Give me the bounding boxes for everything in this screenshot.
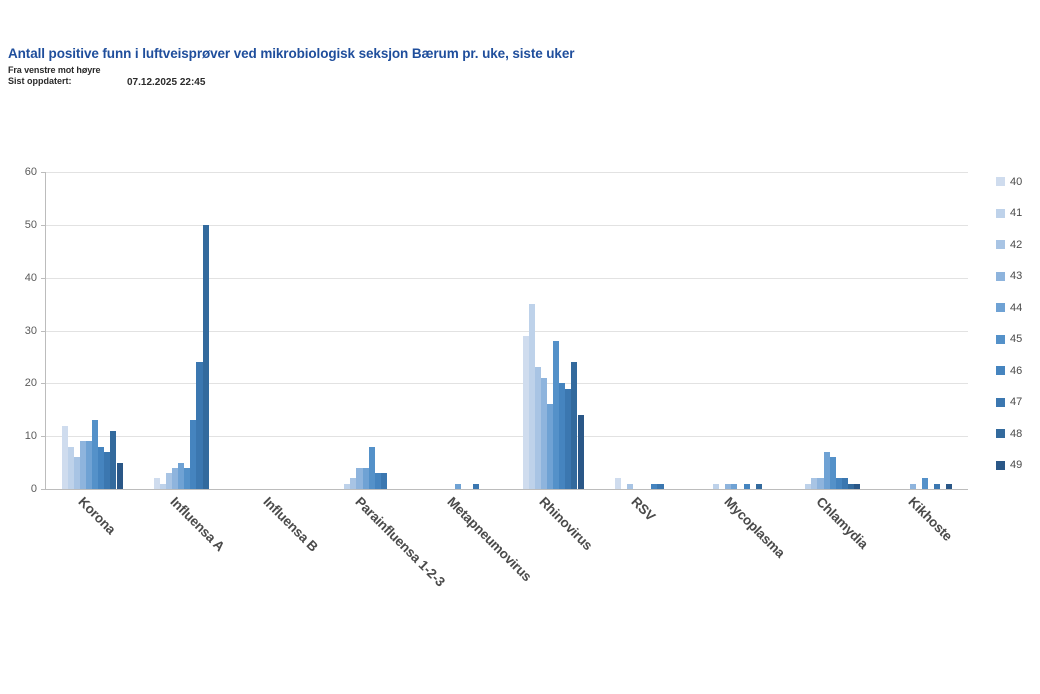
x-axis-tick-label: Chlamydia (813, 494, 871, 552)
legend-item[interactable]: 46 (996, 355, 1040, 387)
legend-swatch-icon (996, 461, 1005, 470)
y-axis-tick-label: 50 (25, 219, 37, 231)
legend-item[interactable]: 40 (996, 166, 1040, 198)
legend-swatch-icon (996, 366, 1005, 375)
bar[interactable] (744, 484, 750, 489)
bar[interactable] (713, 484, 719, 489)
legend-swatch-icon (996, 177, 1005, 186)
legend-swatch-icon (996, 209, 1005, 218)
bar-group (691, 172, 783, 489)
legend-item[interactable]: 45 (996, 324, 1040, 356)
legend-swatch-icon (996, 429, 1005, 438)
bar[interactable] (473, 484, 479, 489)
legend-item-label: 48 (1010, 428, 1022, 440)
y-axis-tick-label: 0 (31, 483, 37, 495)
bar-group (230, 172, 322, 489)
legend-item-label: 49 (1010, 459, 1022, 471)
y-axis-tick-label: 60 (25, 166, 37, 178)
x-axis-tick-label: Kikhoste (905, 494, 955, 544)
legend-item-label: 44 (1010, 302, 1022, 314)
plot-area: 0102030405060 (46, 172, 968, 489)
bar[interactable] (117, 463, 123, 489)
legend-item-label: 46 (1010, 365, 1022, 377)
bar-group (599, 172, 691, 489)
x-axis-tick-label: RSV (629, 494, 659, 524)
legend-item[interactable]: 47 (996, 387, 1040, 419)
bar[interactable] (627, 484, 633, 489)
y-axis-tick-label: 30 (25, 325, 37, 337)
legend-swatch-icon (996, 335, 1005, 344)
bar-group (46, 172, 138, 489)
legend-item-label: 43 (1010, 270, 1022, 282)
bar[interactable] (756, 484, 762, 489)
x-axis-tick-label: Metapneumovirus (444, 494, 534, 584)
legend-swatch-icon (996, 398, 1005, 407)
x-axis-line (45, 489, 968, 490)
bar[interactable] (455, 484, 461, 489)
legend-swatch-icon (996, 272, 1005, 281)
y-axis-tick-label: 20 (25, 377, 37, 389)
bar[interactable] (657, 484, 663, 489)
legend-item-label: 41 (1010, 207, 1022, 219)
bar[interactable] (934, 484, 940, 489)
y-axis-tick-label: 40 (25, 272, 37, 284)
bar-group (138, 172, 230, 489)
bar-group (415, 172, 507, 489)
y-axis-tick-label: 10 (25, 430, 37, 442)
x-axis-tick-label: Rhinovirus (536, 494, 595, 553)
bar[interactable] (946, 484, 952, 489)
bar[interactable] (381, 473, 387, 489)
bar[interactable] (731, 484, 737, 489)
x-axis-tick-label: Influensa A (168, 494, 228, 554)
x-axis-tick-label: Influensa B (260, 494, 321, 555)
x-axis-tick-label: Korona (75, 494, 118, 537)
bar[interactable] (922, 478, 928, 489)
bar[interactable] (203, 225, 209, 489)
legend-swatch-icon (996, 240, 1005, 249)
chart-canvas: 0102030405060 KoronaInfluensa AInfluensa… (0, 0, 1040, 694)
bar-group (323, 172, 415, 489)
legend-item[interactable]: 49 (996, 450, 1040, 482)
legend-item[interactable]: 43 (996, 261, 1040, 293)
legend-item-label: 45 (1010, 333, 1022, 345)
legend-item[interactable]: 42 (996, 229, 1040, 261)
bar-group (876, 172, 968, 489)
x-axis-tick-label: Parainfluensa 1-2-3 (352, 494, 447, 589)
legend-item[interactable]: 41 (996, 198, 1040, 230)
bar[interactable] (578, 415, 584, 489)
bar-group (507, 172, 599, 489)
legend-item[interactable]: 48 (996, 418, 1040, 450)
bar[interactable] (854, 484, 860, 489)
legend-item-label: 42 (1010, 239, 1022, 251)
bar[interactable] (615, 478, 621, 489)
y-axis-tick (41, 489, 46, 490)
bar-group (784, 172, 876, 489)
legend-item-label: 40 (1010, 176, 1022, 188)
legend-item-label: 47 (1010, 396, 1022, 408)
x-axis-tick-label: Mycoplasma (721, 494, 788, 561)
legend-swatch-icon (996, 303, 1005, 312)
bar[interactable] (910, 484, 916, 489)
legend: 40414243444546474849 (996, 166, 1040, 481)
legend-item[interactable]: 44 (996, 292, 1040, 324)
